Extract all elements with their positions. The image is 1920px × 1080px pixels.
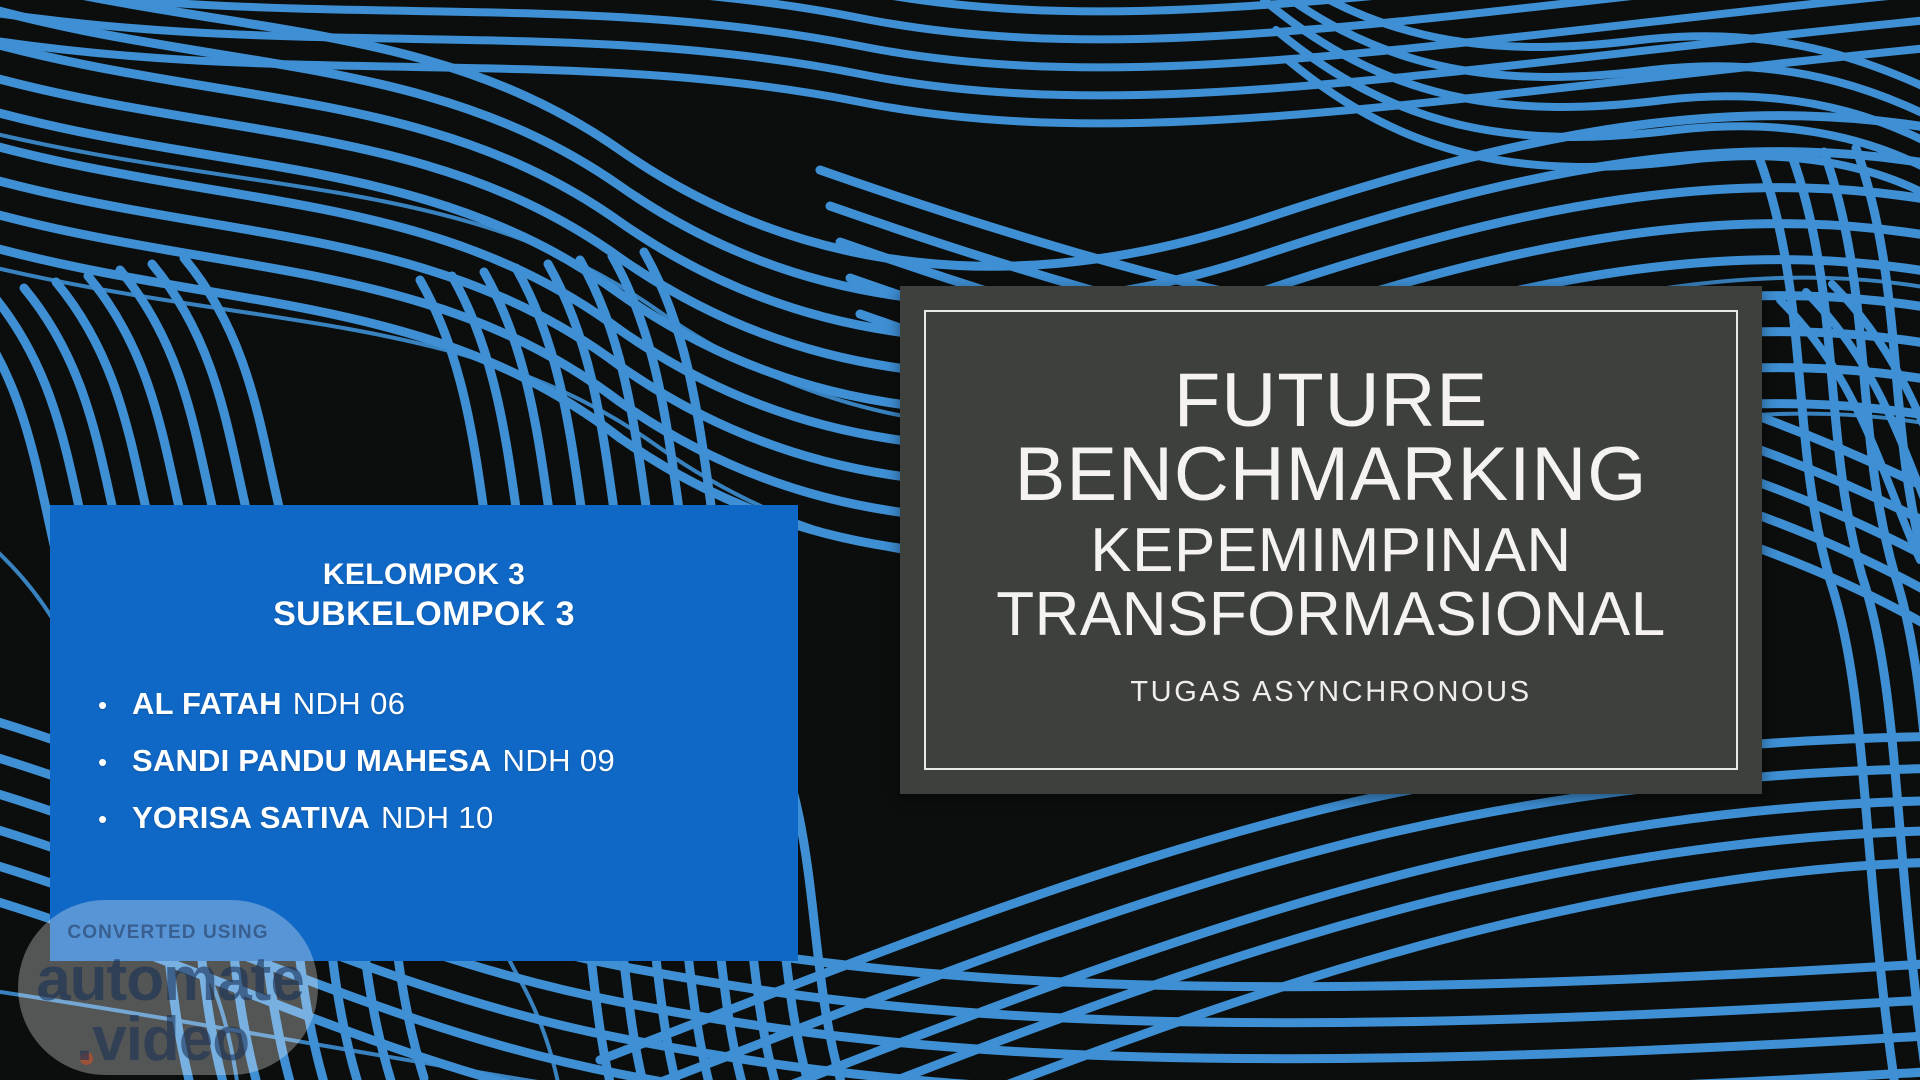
member-ndh: NDH 10 [381,802,494,833]
bullet-icon: • [98,692,132,718]
title-card: FUTURE BENCHMARKING KEPEMIMPINAN TRANSFO… [900,286,1762,794]
title-card-frame: FUTURE BENCHMARKING KEPEMIMPINAN TRANSFO… [924,310,1738,770]
title-line-future: FUTURE [1174,363,1488,438]
member-name: AL FATAH [132,688,282,719]
watermark-converted-label: CONVERTED USING [18,922,318,944]
team-info-panel: KELOMPOK 3 SUBKELOMPOK 3 • AL FATAH NDH … [50,505,798,961]
bullet-icon: • [98,749,132,775]
watermark-domain: .video [76,1004,318,1075]
member-list: • AL FATAH NDH 06 • SANDI PANDU MAHESA N… [90,688,758,859]
list-item: • SANDI PANDU MAHESA NDH 09 [98,745,758,776]
member-ndh: NDH 06 [293,688,406,719]
subtitle-line-kepemimpinan: KEPEMIMPINAN [1090,520,1571,582]
slide-root: KELOMPOK 3 SUBKELOMPOK 3 • AL FATAH NDH … [0,0,1920,1080]
bullet-icon: • [98,806,132,832]
title-card-footer: TUGAS ASYNCHRONOUS [1130,678,1531,707]
list-item: • AL FATAH NDH 06 [98,688,758,719]
subtitle-line-transformasional: TRANSFORMASIONAL [996,584,1665,646]
kelompok-heading: KELOMPOK 3 [90,557,758,592]
subkelompok-heading: SUBKELOMPOK 3 [90,594,758,635]
member-name: YORISA SATIVA [132,802,370,833]
title-line-benchmarking: BENCHMARKING [1015,437,1648,512]
automate-video-watermark: CONVERTED USING automate .video [18,900,318,1075]
list-item: • YORISA SATIVA NDH 10 [98,802,758,833]
member-name: SANDI PANDU MAHESA [132,745,492,776]
member-ndh: NDH 09 [503,745,616,776]
